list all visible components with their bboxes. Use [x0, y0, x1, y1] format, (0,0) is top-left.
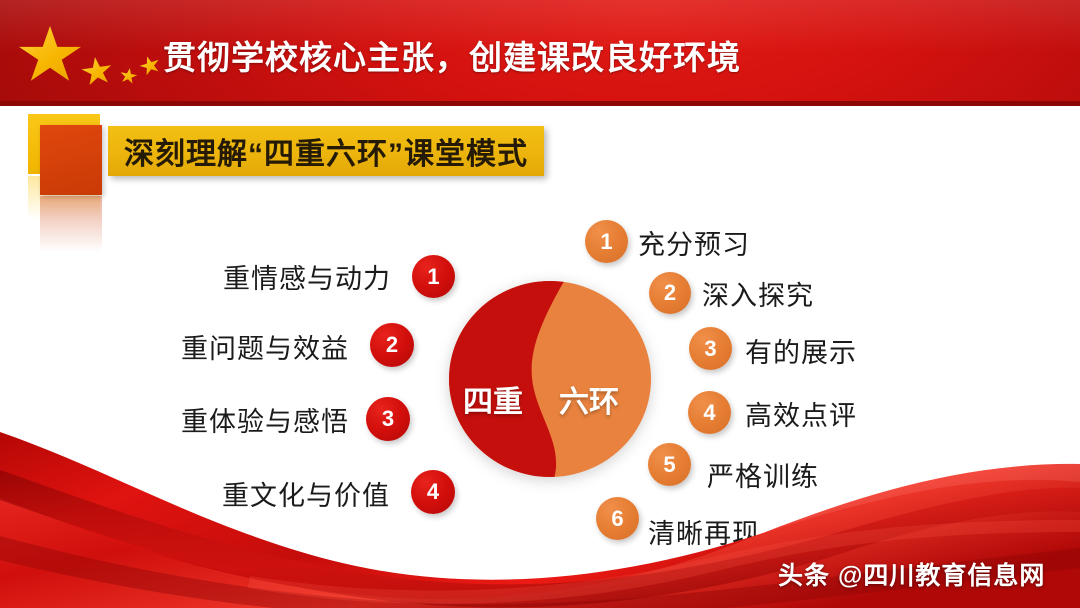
right-item-number-4: 4: [703, 400, 715, 426]
left-item-label-3: 重体验与感悟: [181, 400, 349, 439]
star-icon-small: [119, 67, 139, 86]
section-title-text: 深刻理解“四重六环”课堂模式: [124, 129, 528, 173]
right-item-label-6: 清晰再现: [648, 512, 760, 551]
decor-orange-square: [40, 125, 102, 195]
slide-header: 贯彻学校核心主张，创建课改良好环境: [0, 0, 1080, 106]
center-left-label: 四重: [463, 377, 523, 421]
right-item-number-6: 6: [611, 506, 623, 532]
slide-canvas: 贯彻学校核心主张，创建课改良好环境 深刻理解“四重六环”课堂模式 四重 六环 重…: [0, 0, 1080, 608]
right-item-label-3: 有的展示: [745, 331, 857, 370]
right-item-number-2: 2: [664, 280, 676, 306]
watermark-text: 头条 @四川教育信息网: [778, 556, 1045, 592]
star-icon-medium: [80, 55, 114, 88]
center-yinyang-diagram: 四重 六环: [449, 281, 651, 477]
right-item-number-3: 3: [704, 336, 716, 362]
right-item-badge-1: 1: [585, 220, 628, 263]
left-item-label-2: 重问题与效益: [181, 327, 349, 366]
center-right-label: 六环: [559, 377, 619, 421]
left-item-badge-1: 1: [412, 255, 455, 298]
left-item-number-1: 1: [427, 264, 439, 290]
right-item-number-1: 1: [600, 229, 612, 255]
right-item-badge-3: 3: [689, 327, 732, 370]
right-item-label-2: 深入探究: [702, 274, 814, 313]
right-item-badge-6: 6: [596, 497, 639, 540]
right-item-number-5: 5: [663, 452, 675, 478]
left-item-label-1: 重情感与动力: [223, 257, 391, 296]
left-item-number-2: 2: [386, 332, 398, 358]
right-item-label-4: 高效点评: [745, 394, 857, 433]
right-item-label-1: 充分预习: [638, 223, 750, 262]
left-item-label-4: 重文化与价值: [222, 474, 390, 513]
decor-orange-square-reflection: [40, 196, 102, 252]
header-title: 贯彻学校核心主张，创建课改良好环境: [163, 31, 741, 79]
star-icon-large: [19, 26, 81, 85]
left-item-number-4: 4: [427, 479, 439, 505]
section-title-bar: 深刻理解“四重六环”课堂模式: [108, 126, 544, 176]
right-item-badge-4: 4: [688, 391, 731, 434]
right-item-badge-2: 2: [649, 272, 691, 314]
left-item-badge-4: 4: [411, 470, 455, 514]
right-item-label-5: 严格训练: [707, 455, 819, 494]
left-item-badge-3: 3: [366, 397, 410, 441]
left-item-number-3: 3: [382, 406, 394, 432]
left-item-badge-2: 2: [370, 323, 414, 367]
star-icon-tiny: [138, 53, 163, 77]
right-item-badge-5: 5: [648, 443, 691, 486]
